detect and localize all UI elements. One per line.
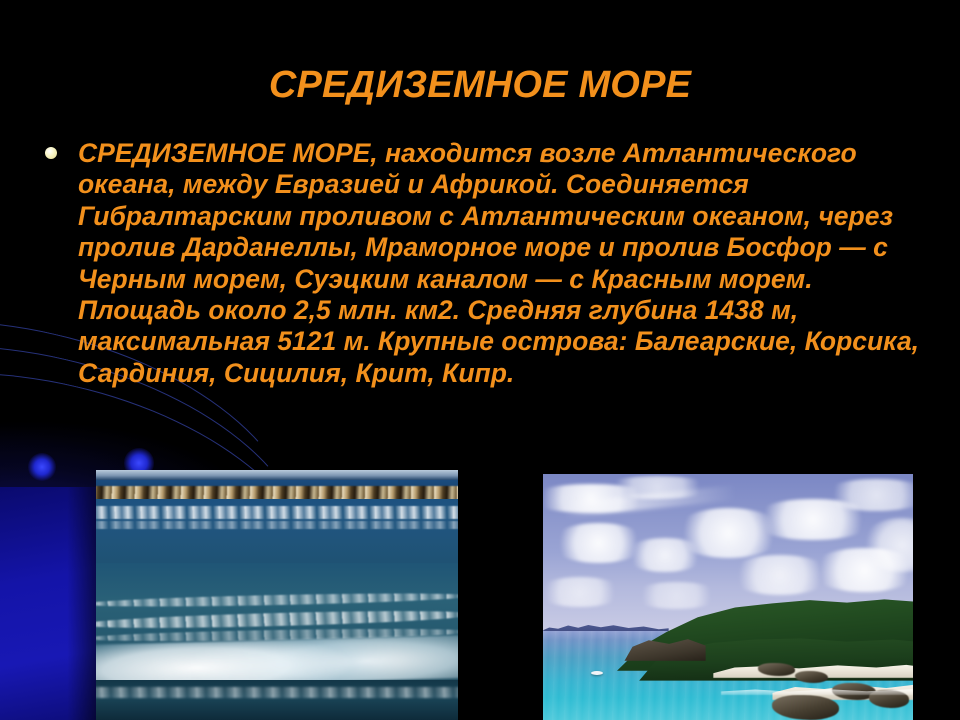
blue-corner-block xyxy=(0,487,96,720)
photo-coastline: Побережье с зелёными холмами, белым пляж… xyxy=(543,474,913,720)
cloud-2 xyxy=(602,476,713,498)
bullet-item-text: СРЕДИЗЕМНОЕ МОРЕ, находится возле Атлант… xyxy=(78,138,930,389)
wave-trough xyxy=(96,680,458,720)
photo-coastline-canvas xyxy=(543,474,913,720)
presentation-slide: СРЕДИЗЕМНОЕ МОРЕ СРЕДИЗЕМНОЕ МОРЕ, наход… xyxy=(0,0,960,720)
photo-sea-waves: Морские волны с каменным волноломом на г… xyxy=(96,470,458,720)
slide-title: СРЕДИЗЕМНОЕ МОРЕ xyxy=(0,62,960,108)
photo-sea-waves-canvas xyxy=(96,470,458,720)
slide-body: СРЕДИЗЕМНОЕ МОРЕ, находится возле Атлант… xyxy=(40,138,930,389)
glow-dot-1-icon xyxy=(28,453,56,481)
foam-band-1 xyxy=(96,506,458,519)
bullet-point-icon xyxy=(45,147,57,159)
bullet-item: СРЕДИЗЕМНОЕ МОРЕ, находится возле Атлант… xyxy=(40,138,930,389)
horizon-sky xyxy=(96,470,458,480)
shore-rock-1 xyxy=(758,663,795,675)
foam-band-2 xyxy=(96,521,458,529)
small-boat xyxy=(591,671,603,675)
cloud-11 xyxy=(632,582,721,609)
